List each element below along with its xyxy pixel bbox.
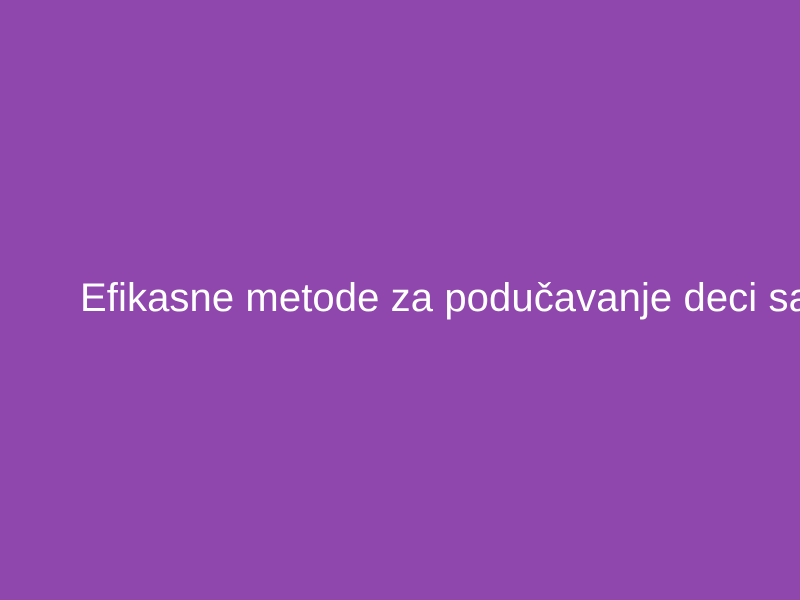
title-block: Efikasne metode za podučavanje deci sa <box>80 273 720 324</box>
page-title: Efikasne metode za podučavanje deci sa <box>80 273 720 324</box>
title-card: Efikasne metode za podučavanje deci sa <box>0 0 800 600</box>
